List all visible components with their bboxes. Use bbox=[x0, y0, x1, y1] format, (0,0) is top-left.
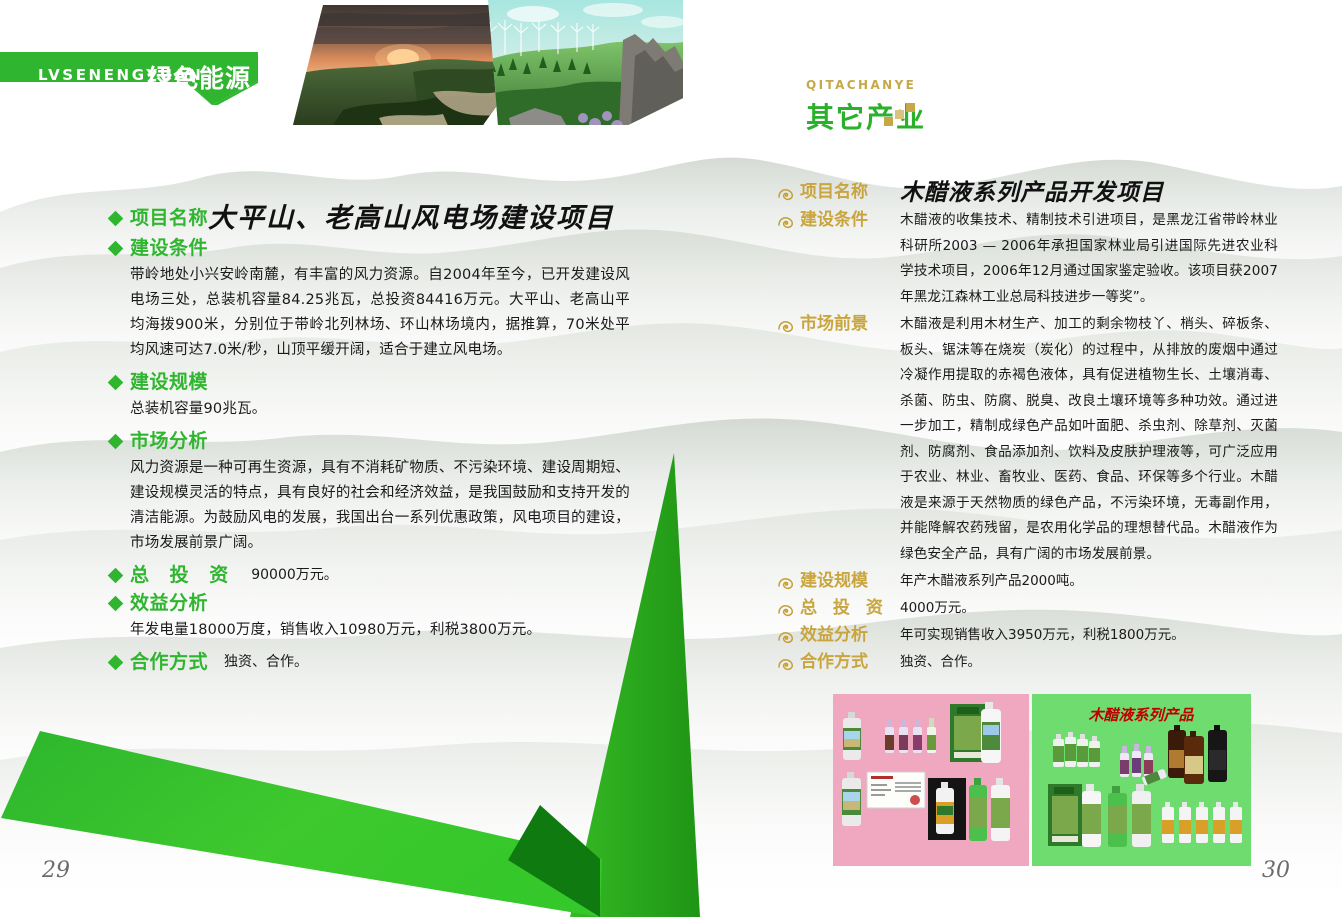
section-label: 建设规模 bbox=[130, 369, 208, 395]
diamond-bullet-icon bbox=[108, 375, 124, 391]
section-total-investment: 总 投 资 90000万元。 bbox=[110, 562, 630, 588]
section-label: 总 投 资 bbox=[800, 596, 892, 621]
section-benefit-analysis: 效益分析 年发电量18000万度，销售收入10980万元，利税3800万元。 bbox=[110, 590, 630, 643]
section-label: 合作方式 bbox=[130, 649, 208, 675]
swirl-cloud-icon bbox=[778, 656, 794, 675]
section-value: 90000万元。 bbox=[251, 562, 338, 588]
photo-caption: 木醋液系列产品 bbox=[1088, 706, 1194, 724]
section-value: 4000万元。 bbox=[900, 596, 975, 621]
gold-squares-icon bbox=[884, 103, 918, 131]
section-market-prospect: 市场前景 木醋液是利用木材生产、加工的剩余物枝丫、梢头、碎板条、板头、锯沫等在烧… bbox=[778, 312, 1278, 567]
diamond-bullet-icon bbox=[108, 241, 124, 257]
section-value: 年产木醋液系列产品2000吨。 bbox=[900, 569, 1083, 594]
left-column-content: 项目名称 大平山、老高山风电场建设项目 建设条件 带岭地处小兴安岭南麓，有丰富的… bbox=[110, 205, 630, 677]
section-market-analysis: 市场分析 风力资源是一种可再生资源，具有不消耗矿物质、不污染环境、建设周期短、建… bbox=[110, 428, 630, 556]
section-value: 年可实现销售收入3950万元，利税1800万元。 bbox=[900, 623, 1185, 648]
diamond-bullet-icon bbox=[108, 568, 124, 584]
section-label: 建设规模 bbox=[800, 569, 892, 594]
section-total-investment: 总 投 资 4000万元。 bbox=[778, 596, 1278, 621]
section-construction-scale: 建设规模 年产木醋液系列产品2000吨。 bbox=[778, 569, 1278, 594]
swirl-cloud-icon bbox=[778, 214, 794, 233]
section-label: 市场前景 bbox=[800, 312, 892, 337]
header-photo-collage bbox=[283, 0, 683, 140]
product-photo-group: 木醋液系列产品 bbox=[833, 694, 1251, 866]
project-title: 木醋液系列产品开发项目 bbox=[900, 180, 1164, 206]
project-title: 大平山、老高山风电场建设项目 bbox=[208, 205, 614, 233]
page-number-left: 29 bbox=[42, 858, 70, 883]
section-value: 独资、合作。 bbox=[900, 650, 981, 675]
section-body: 带岭地处小兴安岭南麓，有丰富的风力资源。自2004年至今，已开发建设风电场三处，… bbox=[130, 263, 630, 363]
section-body: 总装机容量90兆瓦。 bbox=[130, 397, 630, 422]
section-cooperation-mode: 合作方式 独资、合作。 bbox=[778, 650, 1278, 675]
diamond-bullet-icon bbox=[108, 211, 124, 227]
swirl-cloud-icon bbox=[778, 575, 794, 594]
product-photo-green: 木醋液系列产品 bbox=[1032, 694, 1251, 866]
section-body: 木醋液是利用木材生产、加工的剩余物枝丫、梢头、碎板条、板头、锯沫等在烧炭（炭化）… bbox=[900, 312, 1278, 567]
swirl-cloud-icon bbox=[778, 186, 794, 205]
section-body: 风力资源是一种可再生资源，具有不消耗矿物质、不污染环境、建设周期短、建设规模灵活… bbox=[130, 456, 630, 556]
section-body: 年发电量18000万度，销售收入10980万元，利税3800万元。 bbox=[130, 618, 630, 643]
product-photo-pink bbox=[833, 694, 1029, 866]
section-label: 建设条件 bbox=[130, 235, 208, 261]
diamond-bullet-icon bbox=[108, 434, 124, 450]
banner-title-text: 绿色能源 bbox=[147, 59, 251, 95]
section-label: 项目名称 bbox=[800, 180, 892, 205]
page-number-right: 30 bbox=[1262, 858, 1290, 883]
section-cooperation-mode: 合作方式 独资、合作。 bbox=[110, 649, 630, 675]
section-label: 效益分析 bbox=[800, 623, 892, 648]
section-construction-scale: 建设规模 总装机容量90兆瓦。 bbox=[110, 369, 630, 422]
swirl-cloud-icon bbox=[778, 318, 794, 337]
diamond-bullet-icon bbox=[108, 655, 124, 671]
section-label: 合作方式 bbox=[800, 650, 892, 675]
right-header-pinyin: QITACHANYE bbox=[806, 78, 926, 92]
section-label: 建设条件 bbox=[800, 208, 892, 233]
section-value: 独资、合作。 bbox=[224, 649, 308, 675]
section-label: 项目名称 bbox=[130, 205, 208, 231]
section-construction-conditions: 建设条件 带岭地处小兴安岭南麓，有丰富的风力资源。自2004年至今，已开发建设风… bbox=[110, 235, 630, 363]
section-label: 效益分析 bbox=[130, 590, 208, 616]
section-label: 市场分析 bbox=[130, 428, 208, 454]
section-project-name: 项目名称 大平山、老高山风电场建设项目 bbox=[110, 205, 630, 233]
section-project-name: 项目名称 木醋液系列产品开发项目 bbox=[778, 180, 1278, 206]
section-label: 总 投 资 bbox=[130, 562, 235, 588]
section-body: 木醋液的收集技术、精制技术引进项目，是黑龙江省带岭林业科研所2003 — 200… bbox=[900, 208, 1278, 310]
diamond-bullet-icon bbox=[108, 596, 124, 612]
right-column-content: 项目名称 木醋液系列产品开发项目 建设条件 木醋液的收集技术、精制技术引进项目，… bbox=[778, 180, 1278, 677]
swirl-cloud-icon bbox=[778, 602, 794, 621]
section-benefit-analysis: 效益分析 年可实现销售收入3950万元，利税1800万元。 bbox=[778, 623, 1278, 648]
swirl-cloud-icon bbox=[778, 629, 794, 648]
section-construction-conditions: 建设条件 木醋液的收集技术、精制技术引进项目，是黑龙江省带岭林业科研所2003 … bbox=[778, 208, 1278, 310]
